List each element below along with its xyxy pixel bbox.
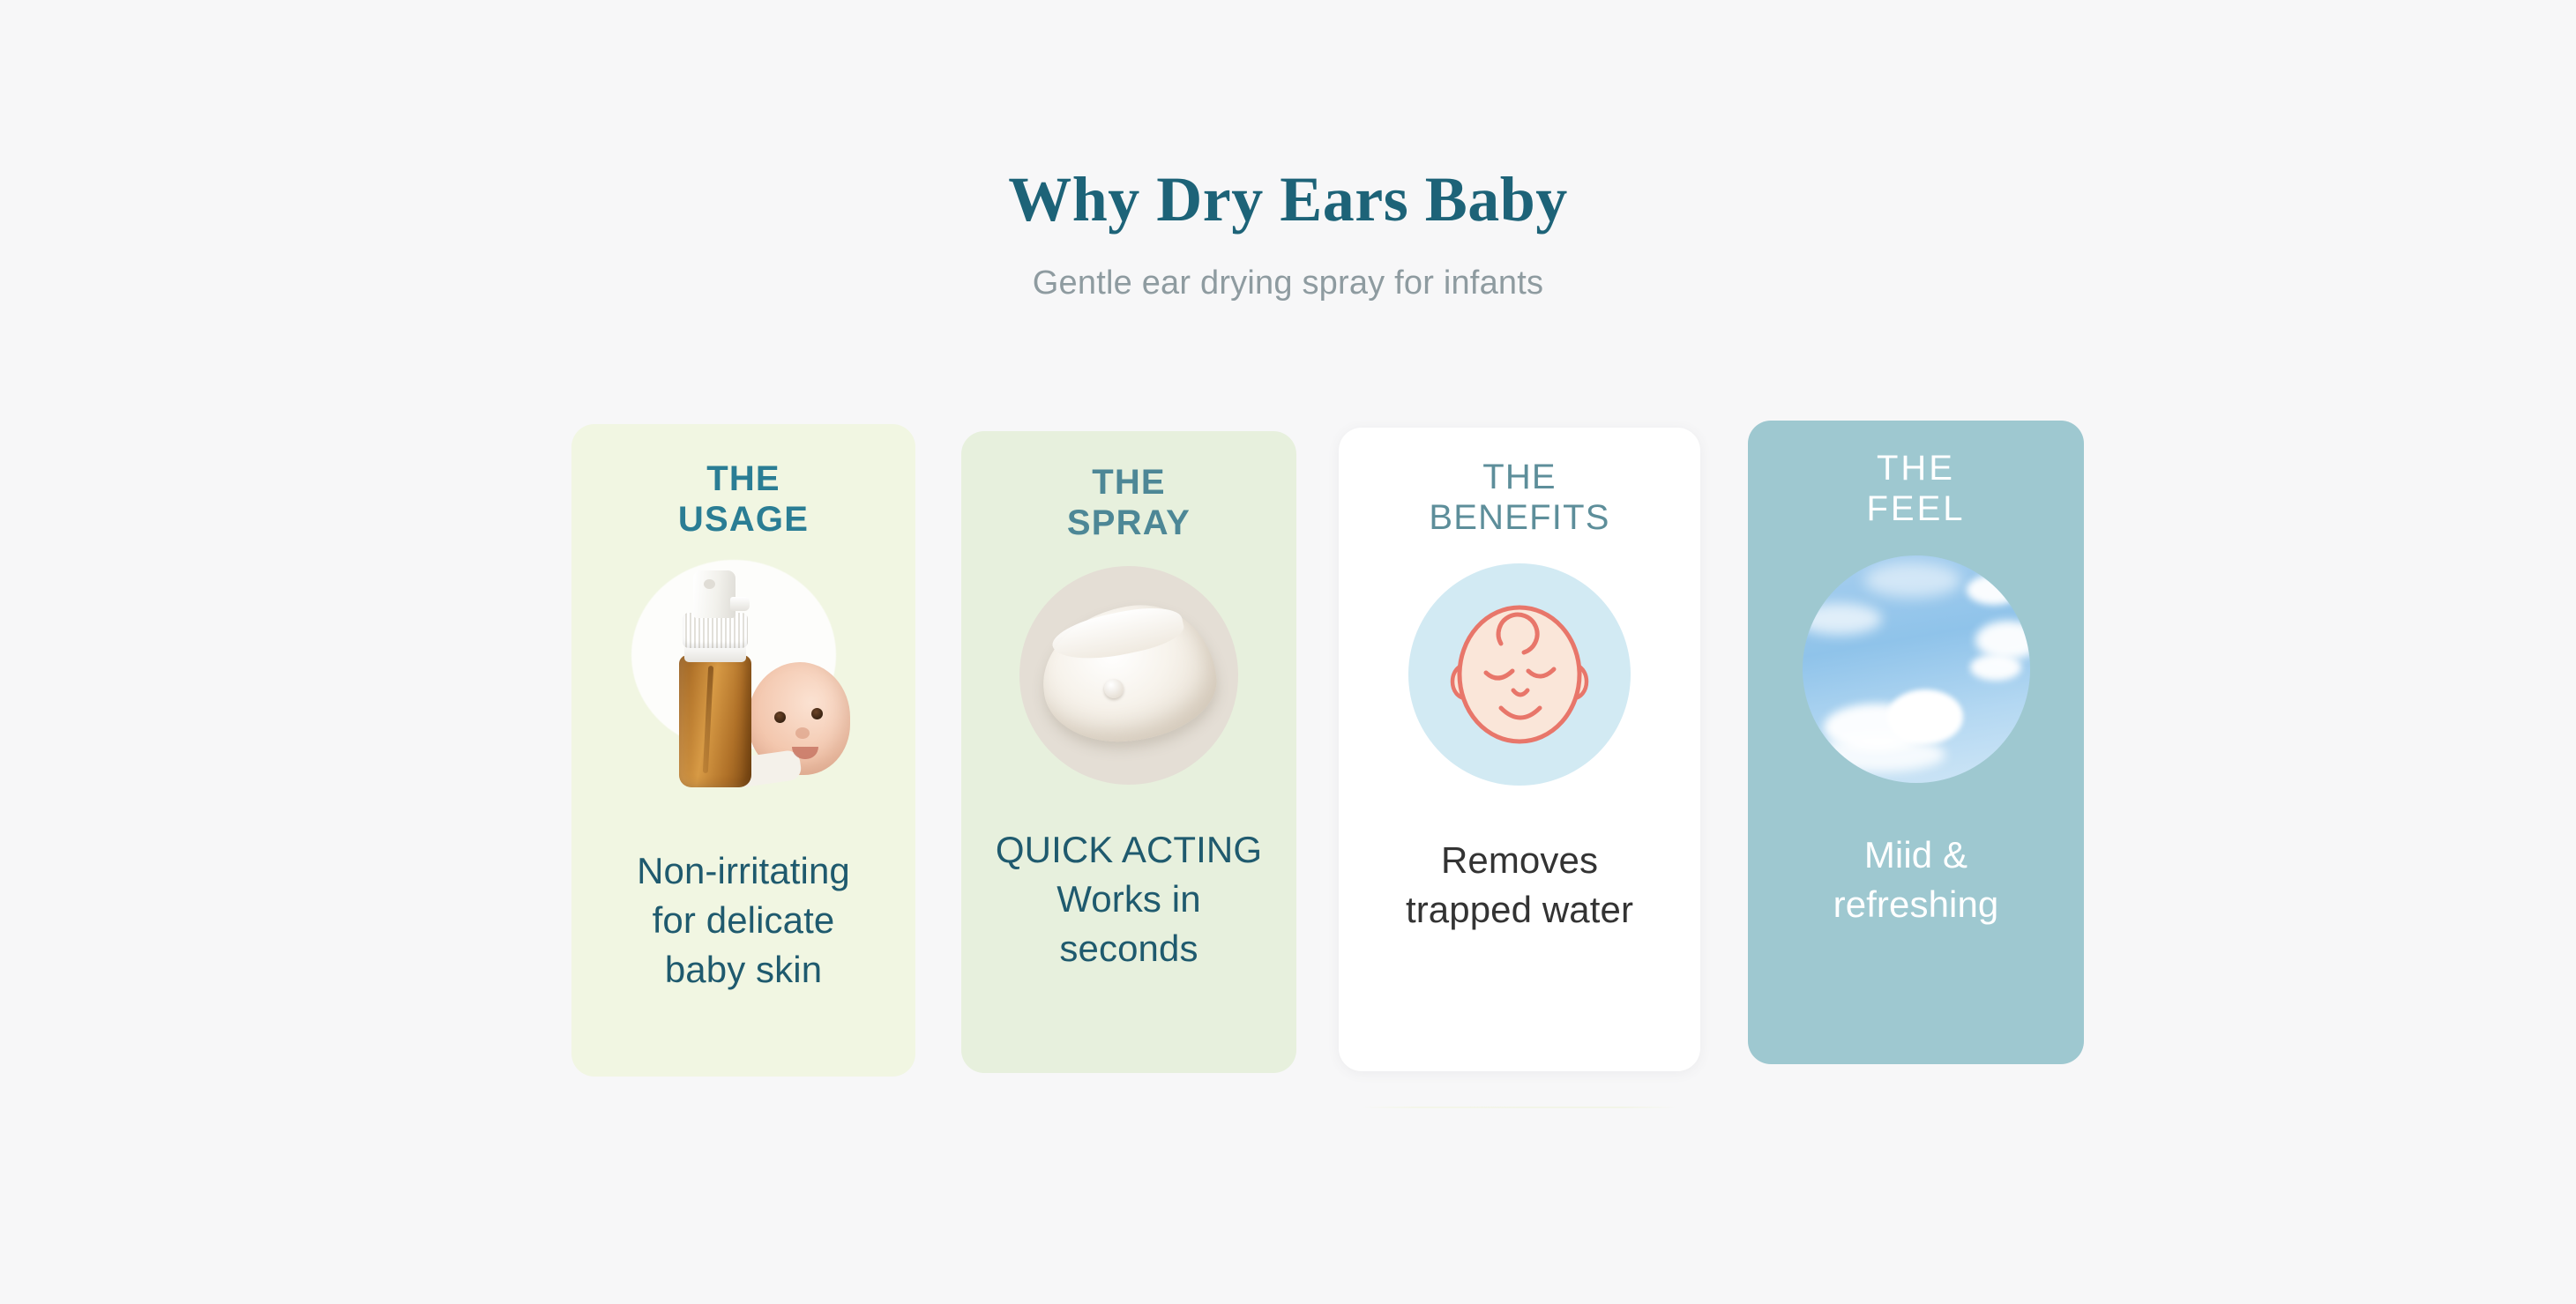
faint-divider <box>1361 1107 1678 1108</box>
cream-blob-shape <box>1034 597 1222 751</box>
bottle-collar <box>683 613 748 648</box>
cloud-shape <box>1864 563 1961 598</box>
card-spray-body: QUICK ACTING Works in seconds <box>996 825 1262 973</box>
card-benefits-body: Removes trapped water <box>1406 836 1633 935</box>
baby-photo-eye-left <box>774 712 786 723</box>
cloud-shape <box>1887 689 1963 744</box>
card-benefits-media <box>1339 550 1700 799</box>
card-usage-body: Non-irritating for delicate baby skin <box>637 846 850 995</box>
card-feel[interactable]: THE FEEL Miid & refreshing <box>1748 421 2084 1064</box>
cloud-shape <box>1967 575 2021 605</box>
baby-face-icon <box>1408 563 1631 786</box>
amber-bottle-body <box>679 655 751 787</box>
spray-bottle-photo-icon <box>624 556 862 803</box>
header: Why Dry Ears Baby Gentle ear drying spra… <box>0 168 2576 300</box>
cloud-shape <box>1970 654 2021 681</box>
card-spray[interactable]: THE SPRAY QUICK ACTING Works in seconds <box>961 431 1296 1073</box>
cream-swatch-photo-icon <box>1019 566 1238 785</box>
card-usage-heading: THE USAGE <box>678 459 809 540</box>
card-feel-media <box>1748 545 2084 794</box>
card-usage[interactable]: THE USAGE <box>571 424 915 1077</box>
baby-photo-eye-right <box>811 708 823 719</box>
card-usage-media <box>571 552 915 808</box>
baby-photo-nose <box>795 727 810 739</box>
cloud-shape <box>1803 603 1882 635</box>
card-spray-heading: THE SPRAY <box>1067 463 1191 543</box>
page-subtitle: Gentle ear drying spray for infants <box>0 266 2576 300</box>
page-title: Why Dry Ears Baby <box>0 168 2576 231</box>
card-benefits-heading: THE BENEFITS <box>1429 458 1609 538</box>
spray-cap-icon <box>693 570 735 618</box>
card-feel-heading: THE FEEL <box>1866 449 1965 529</box>
sky-clouds-photo-icon <box>1803 555 2030 783</box>
feature-card-strip: THE USAGE <box>571 419 2084 1076</box>
card-feel-body: Miid & refreshing <box>1833 831 1999 929</box>
card-spray-media <box>961 557 1296 794</box>
spray-nozzle-icon <box>730 597 750 611</box>
page-root: Why Dry Ears Baby Gentle ear drying spra… <box>0 0 2576 1304</box>
card-benefits[interactable]: THE BENEFITS <box>1339 428 1700 1071</box>
baby-photo-face <box>748 662 850 775</box>
